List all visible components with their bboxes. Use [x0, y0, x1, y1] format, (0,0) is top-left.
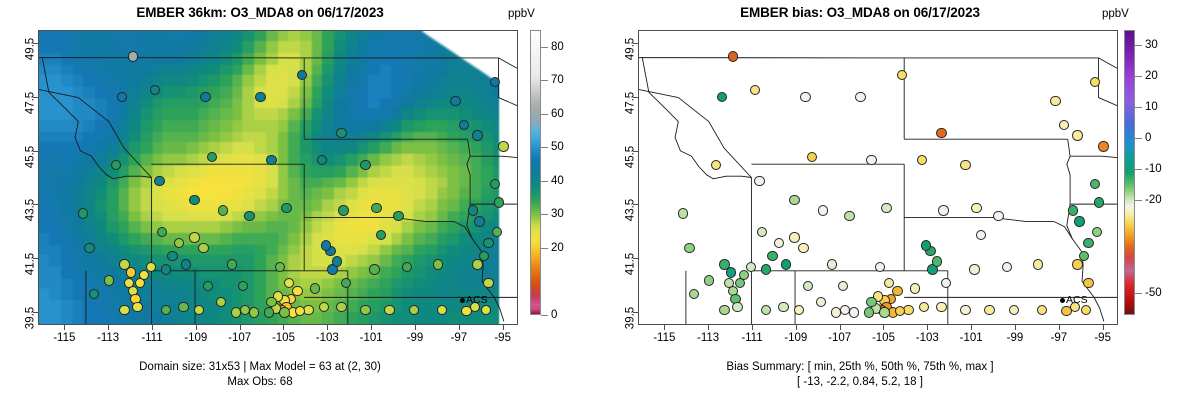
x-tick-label: -111 [741, 332, 762, 344]
colorbar-tick [1135, 293, 1142, 294]
caption-line-1: Domain size: 31x53 | Max Model = 63 at (… [0, 360, 520, 375]
site-marker[interactable] [472, 259, 482, 269]
y-tick-label: 49.5 [24, 38, 36, 60]
site-marker[interactable] [689, 289, 699, 299]
x-tick [664, 325, 665, 330]
colorbar-tick-label: 50 [551, 141, 564, 153]
site-marker[interactable] [969, 264, 979, 274]
site-marker[interactable] [128, 51, 138, 61]
site-marker[interactable] [936, 128, 946, 138]
site-marker[interactable] [1074, 216, 1084, 226]
site-marker[interactable] [971, 203, 981, 213]
site-marker[interactable] [154, 176, 164, 186]
x-tick-label: -107 [828, 332, 851, 344]
site-marker[interactable] [719, 305, 729, 315]
site-marker[interactable] [917, 155, 927, 165]
site-marker[interactable] [338, 205, 348, 215]
site-marker[interactable] [993, 211, 1003, 221]
site-marker[interactable] [336, 128, 346, 138]
colorbar-tick [541, 147, 548, 148]
colorbar-tick [1135, 200, 1142, 201]
x-tick [240, 325, 241, 330]
colorbar-tick-label: 60 [551, 108, 564, 120]
y-tick-label: 39.5 [24, 306, 36, 328]
site-marker[interactable] [866, 297, 876, 307]
site-marker[interactable] [938, 205, 948, 215]
site-marker[interactable] [78, 208, 88, 218]
colorbar-tick-label: 30 [551, 208, 564, 220]
site-marker[interactable] [111, 160, 121, 170]
city-marker-dot [1060, 298, 1065, 303]
site-marker[interactable] [816, 297, 826, 307]
site-marker[interactable] [1072, 259, 1082, 269]
colorbar-tick-label: -20 [1145, 194, 1162, 206]
site-marker[interactable] [281, 203, 291, 213]
figure-canvas: EMBER 36km: O3_MDA8 on 06/17/2023 ACS -1… [0, 0, 1200, 409]
caption-line-2: [ -13, -2.2, 0.84, 5.2, 18 ] [600, 375, 1120, 390]
x-tick-label: -105 [272, 332, 295, 344]
panel-model: EMBER 36km: O3_MDA8 on 06/17/2023 ACS -1… [0, 0, 600, 409]
site-marker[interactable] [409, 305, 419, 315]
x-tick-label: -115 [653, 332, 675, 344]
x-tick-label: -113 [97, 332, 119, 344]
colorbar-tick [541, 214, 548, 215]
site-marker[interactable] [1050, 96, 1060, 106]
site-marker[interactable] [483, 238, 493, 248]
site-marker[interactable] [472, 130, 482, 140]
x-tick [752, 325, 753, 330]
site-marker[interactable] [849, 307, 859, 317]
x-tick-label: -101 [360, 332, 383, 344]
x-tick [927, 325, 928, 330]
site-marker[interactable] [189, 232, 199, 242]
site-marker[interactable] [119, 305, 129, 315]
x-tick [503, 325, 504, 330]
site-marker[interactable] [498, 141, 508, 151]
colorbar-tick [541, 181, 548, 182]
panel-bias-plot-area[interactable]: ACS [638, 30, 1118, 325]
site-marker[interactable] [789, 195, 799, 205]
site-marker[interactable] [866, 155, 876, 165]
site-marker[interactable] [84, 243, 94, 253]
site-marker[interactable] [864, 307, 874, 317]
site-marker[interactable] [921, 240, 931, 250]
x-tick-label: -105 [872, 332, 895, 344]
site-marker[interactable] [855, 92, 865, 102]
site-marker[interactable] [960, 305, 970, 315]
site-marker[interactable] [844, 211, 854, 221]
x-tick-label: -103 [916, 332, 939, 344]
x-tick-label: -113 [697, 332, 719, 344]
x-tick [1103, 325, 1104, 330]
panel-model-caption: Domain size: 31x53 | Max Model = 63 at (… [0, 360, 520, 390]
site-marker[interactable] [360, 305, 370, 315]
site-marker[interactable] [249, 307, 259, 317]
x-tick-label: -111 [141, 332, 162, 344]
site-marker[interactable] [317, 155, 327, 165]
x-tick-label: -107 [228, 332, 251, 344]
site-marker[interactable] [384, 305, 394, 315]
colorbar-tick-label: 20 [551, 242, 564, 254]
site-marker[interactable] [761, 264, 771, 274]
site-marker[interactable] [754, 176, 764, 186]
site-marker[interactable] [238, 281, 248, 291]
site-marker[interactable] [976, 230, 986, 240]
colorbar-bias-unit: ppbV [1102, 8, 1129, 20]
site-marker[interactable] [244, 211, 254, 221]
caption-line-2: Max Obs: 68 [0, 375, 520, 390]
x-tick [196, 325, 197, 330]
y-tick-label: 47.5 [624, 92, 636, 114]
caption-line-1: Bias Summary: [ min, 25th %, 50th %, 75t… [600, 360, 1120, 375]
x-tick [1015, 325, 1016, 330]
x-tick [415, 325, 416, 330]
site-marker[interactable] [200, 92, 210, 102]
x-tick [64, 325, 65, 330]
site-marker[interactable] [468, 205, 478, 215]
y-axis-bias: 39.541.543.545.547.549.5 [608, 30, 638, 325]
colorbar-tick-label: 10 [1145, 101, 1158, 113]
site-marker[interactable] [1072, 130, 1082, 140]
site-marker[interactable] [393, 211, 403, 221]
site-marker[interactable] [332, 256, 342, 266]
site-marker[interactable] [198, 243, 208, 253]
site-marker[interactable] [450, 96, 460, 106]
colorbar-tick [541, 315, 548, 316]
site-marker[interactable] [838, 281, 848, 291]
site-marker[interactable] [227, 259, 237, 269]
site-marker[interactable] [126, 267, 136, 277]
colorbar-tick-label: 40 [551, 175, 564, 187]
x-tick-label: -101 [960, 332, 983, 344]
x-tick [796, 325, 797, 330]
site-marker[interactable] [266, 155, 276, 165]
site-marker[interactable] [678, 208, 688, 218]
site-marker[interactable] [483, 278, 493, 288]
site-marker[interactable] [1083, 278, 1093, 288]
colorbar-tick-label: 30 [1145, 39, 1158, 51]
site-marker[interactable] [800, 92, 810, 102]
city-marker-label: ACS [1066, 294, 1088, 306]
x-tick-label: -99 [407, 332, 424, 344]
site-marker[interactable] [1033, 259, 1043, 269]
site-marker[interactable] [336, 302, 346, 312]
site-marker[interactable] [781, 259, 791, 269]
site-marker[interactable] [218, 205, 228, 215]
site-marker[interactable] [369, 264, 379, 274]
panel-bias-caption: Bias Summary: [ min, 25th %, 50th %, 75t… [600, 360, 1120, 390]
x-tick [708, 325, 709, 330]
x-tick [327, 325, 328, 330]
x-tick [971, 325, 972, 330]
site-marker[interactable] [818, 205, 828, 215]
colorbar-tick [541, 248, 548, 249]
colorbar-tick-label: 20 [1145, 70, 1158, 82]
colorbar-bias-gradient [1124, 30, 1135, 315]
y-tick-label: 47.5 [24, 92, 36, 114]
site-marker[interactable] [321, 240, 331, 250]
panel-bias-title: EMBER bias: O3_MDA8 on 06/17/2023 [600, 5, 1120, 20]
x-tick [371, 325, 372, 330]
site-marker[interactable] [932, 256, 942, 266]
site-marker[interactable] [266, 297, 276, 307]
x-tick-label: -97 [1051, 332, 1068, 344]
site-marker[interactable] [1009, 305, 1019, 315]
city-marker-dot [460, 298, 465, 303]
panel-model-plot-area[interactable]: ACS [38, 30, 518, 325]
site-marker[interactable] [798, 243, 808, 253]
site-marker[interactable] [910, 283, 920, 293]
site-marker[interactable] [827, 259, 837, 269]
y-tick-label: 41.5 [624, 253, 636, 275]
y-axis-model: 39.541.543.545.547.549.5 [8, 30, 38, 325]
site-marker[interactable] [264, 307, 274, 317]
colorbar-tick-label: 70 [551, 74, 564, 86]
site-marker[interactable] [984, 305, 994, 315]
panel-model-title: EMBER 36km: O3_MDA8 on 06/17/2023 [0, 5, 520, 20]
x-tick [283, 325, 284, 330]
colorbar-tick [1135, 45, 1142, 46]
colorbar-tick [1135, 76, 1142, 77]
x-axis-bias: -115-113-111-109-107-105-103-101-99-97-9… [638, 325, 1118, 349]
colorbar-tick-label: 0 [551, 309, 557, 321]
site-marker[interactable] [376, 230, 386, 240]
site-marker[interactable] [474, 216, 484, 226]
y-tick-label: 39.5 [624, 306, 636, 328]
colorbar-model-gradient [530, 30, 541, 315]
colorbar-tick-label: 80 [551, 41, 564, 53]
x-tick [459, 325, 460, 330]
x-tick-label: -103 [316, 332, 339, 344]
x-tick-label: -95 [494, 332, 511, 344]
x-tick [883, 325, 884, 330]
y-tick-label: 45.5 [24, 145, 36, 167]
y-tick-label: 43.5 [24, 199, 36, 221]
site-marker[interactable] [803, 281, 813, 291]
site-marker[interactable] [310, 283, 320, 293]
site-marker[interactable] [371, 203, 381, 213]
y-tick-label: 43.5 [624, 199, 636, 221]
y-tick-label: 41.5 [24, 253, 36, 275]
x-tick [840, 325, 841, 330]
site-marker[interactable] [726, 267, 736, 277]
site-marker[interactable] [216, 297, 226, 307]
site-marker[interactable] [279, 307, 289, 317]
x-tick [108, 325, 109, 330]
site-marker[interactable] [203, 281, 213, 291]
colorbar-tick [1135, 107, 1142, 108]
x-tick [1059, 325, 1060, 330]
x-tick-label: -99 [1007, 332, 1024, 344]
site-marker[interactable] [1083, 238, 1093, 248]
colorbar-tick-label: 0 [1145, 132, 1151, 144]
x-tick-label: -115 [53, 332, 75, 344]
site-marker[interactable] [1090, 179, 1100, 189]
colorbar-tick-label: -50 [1145, 287, 1162, 299]
site-marker[interactable] [89, 289, 99, 299]
panel-bias: EMBER bias: O3_MDA8 on 06/17/2023 ACS -1… [600, 0, 1200, 409]
site-marker[interactable] [711, 160, 721, 170]
y-tick-label: 49.5 [624, 38, 636, 60]
colorbar-tick [541, 114, 548, 115]
site-marker[interactable] [490, 179, 500, 189]
site-marker[interactable] [684, 243, 694, 253]
colorbar-model-unit: ppbV [508, 8, 535, 20]
colorbar-tick [541, 80, 548, 81]
site-marker[interactable] [255, 92, 265, 102]
map-clip-model: ACS [39, 31, 517, 324]
site-marker[interactable] [1098, 141, 1108, 151]
map-clip-bias: ACS [639, 31, 1117, 324]
site-marker[interactable] [879, 307, 889, 317]
site-marker[interactable] [360, 160, 370, 170]
site-marker[interactable] [104, 275, 114, 285]
x-axis-model: -115-113-111-109-107-105-103-101-99-97-9… [38, 325, 518, 349]
colorbar-tick [1135, 169, 1142, 170]
colorbar-tick [1135, 138, 1142, 139]
site-marker[interactable] [433, 259, 443, 269]
site-marker[interactable] [161, 264, 171, 274]
x-tick-label: -97 [451, 332, 468, 344]
site-marker[interactable] [789, 232, 799, 242]
x-tick-label: -95 [1094, 332, 1111, 344]
x-tick-label: -109 [184, 332, 207, 344]
site-marker[interactable] [189, 195, 199, 205]
colorbar-tick-label: -10 [1145, 163, 1162, 175]
colorbar-tick [541, 47, 548, 48]
x-tick [152, 325, 153, 330]
site-marker[interactable] [936, 302, 946, 312]
site-marker[interactable] [181, 259, 191, 269]
site-marker[interactable] [704, 275, 714, 285]
x-tick-label: -109 [784, 332, 807, 344]
city-marker-label: ACS [466, 294, 488, 306]
y-tick-label: 45.5 [624, 145, 636, 167]
site-marker[interactable] [1068, 205, 1078, 215]
site-marker[interactable] [960, 160, 970, 170]
site-marker[interactable] [881, 203, 891, 213]
site-marker[interactable] [728, 51, 738, 61]
